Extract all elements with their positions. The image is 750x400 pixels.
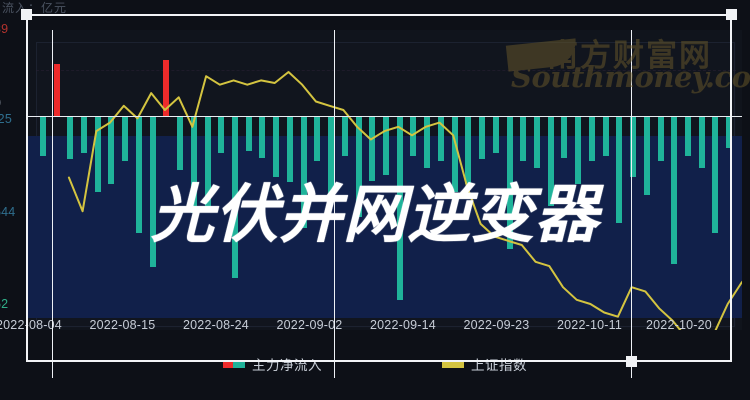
y-axis-label-0: 39 bbox=[0, 22, 8, 36]
legend-label: 主力净流入 bbox=[252, 354, 322, 374]
y-axis-label-2: .25 bbox=[0, 112, 12, 126]
page-title: 光伏并网逆变器 bbox=[0, 163, 750, 255]
screenshot-stage: 流入：亿元 390.2564462 2022-08-042022-08-1520… bbox=[0, 0, 750, 400]
bottom-strip bbox=[0, 378, 750, 400]
x-axis-label-3: 2022-09-02 bbox=[277, 318, 343, 332]
legend-label: 上证指数 bbox=[471, 354, 527, 374]
legend-item-main-net-inflow[interactable]: 主力净流入 bbox=[223, 354, 322, 374]
legend-item-sse-index[interactable]: 上证指数 bbox=[442, 354, 527, 374]
y-axis-unit-label: 流入：亿元 bbox=[2, 0, 67, 16]
x-axis-label-5: 2022-09-23 bbox=[464, 318, 530, 332]
chart-legend: 主力净流入 上证指数 bbox=[0, 350, 750, 378]
legend-swatch-red-green-icon bbox=[223, 361, 245, 368]
y-axis-label-4: 62 bbox=[0, 297, 8, 311]
x-axis-label-6: 2022-10-11 bbox=[557, 318, 622, 332]
x-axis-label-1: 2022-08-15 bbox=[90, 318, 156, 332]
y-axis-label-1: 0 bbox=[0, 96, 1, 110]
x-axis-label-2: 2022-08-24 bbox=[183, 318, 249, 332]
selection-handle-top-left[interactable] bbox=[21, 9, 32, 20]
zero-line bbox=[26, 116, 742, 117]
x-axis-label-4: 2022-09-14 bbox=[370, 318, 436, 332]
selection-handle-top-right[interactable] bbox=[726, 9, 737, 20]
x-axis-label-7: 2022-10-20 bbox=[646, 318, 712, 332]
selection-handle-bottom-right[interactable] bbox=[626, 356, 637, 367]
legend-swatch-yellow-icon bbox=[442, 361, 464, 368]
